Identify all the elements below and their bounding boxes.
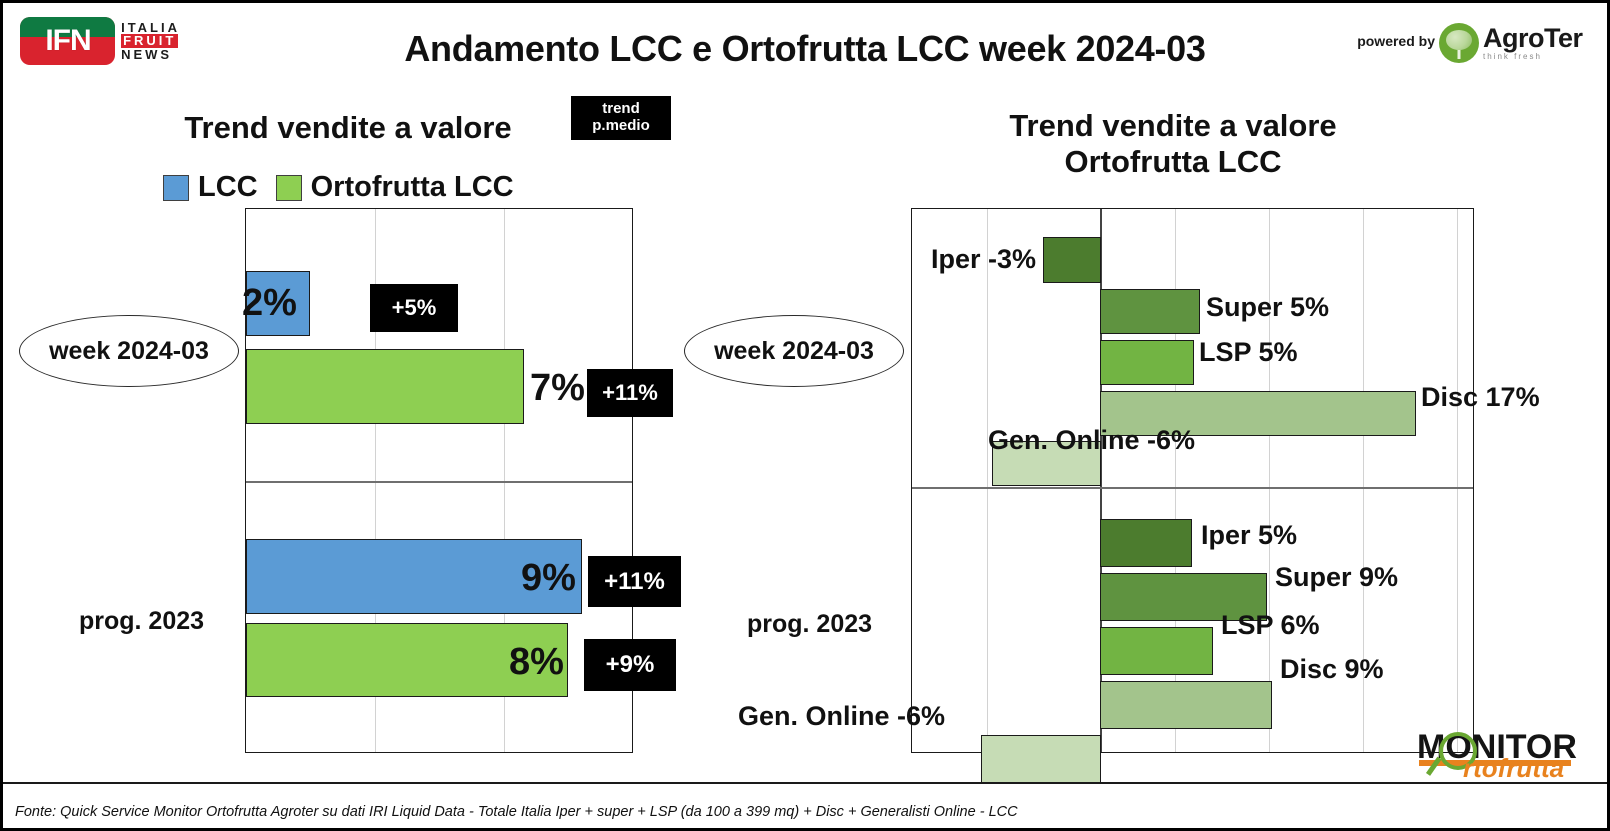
pmedio-badge-ortofrutta-week: +11% [587,369,673,417]
bar-super-week [1100,289,1200,334]
value-label-ortofrutta-prog: 8% [509,643,564,681]
legend-swatch-lcc [163,175,189,201]
value-label-genonline-prog: Gen. Online -6% [738,703,945,730]
bar-lsp-week [1100,340,1194,385]
right-gridline-4 [1269,209,1270,752]
value-label-lsp-prog: LSP 6% [1221,612,1320,639]
pmedio-badge-lcc-prog: +11% [588,556,681,607]
value-label-lcc-prog: 9% [521,559,576,597]
value-label-iper-prog: Iper 5% [1201,522,1297,549]
value-label-super-week: Super 5% [1206,294,1329,321]
bar-genonline-prog [981,735,1101,783]
source-note: Fonte: Quick Service Monitor Ortofrutta … [15,804,1357,820]
value-label-lcc-week: 2% [242,284,297,322]
legend-swatch-ortofrutta [276,175,302,201]
value-label-super-prog: Super 9% [1275,564,1398,591]
monitor-ortofrutta-logo: MONITOR rtofrutta [1393,724,1599,786]
right-group-divider [912,487,1473,489]
bar-iper-prog [1100,519,1192,567]
value-label-lsp-week: LSP 5% [1199,339,1298,366]
axis-label-prog-left: prog. 2023 [79,607,204,636]
trend-badge-line1: trend [602,101,640,118]
left-chart-legend: LCC Ortofrutta LCC [163,171,514,204]
bar-lsp-prog [1100,627,1213,675]
right-chart-plot-area [911,208,1474,753]
legend-label-lcc: LCC [198,171,258,204]
value-label-disc-week: Disc 17% [1421,384,1540,411]
value-label-genonline-week: Gen. Online -6% [988,427,1195,454]
legend-item-ortofrutta: Ortofrutta LCC [276,171,514,204]
monitor-subwordmark: rtofrutta [1463,753,1564,784]
right-gridline-6 [1457,209,1458,752]
right-chart-title: Trend vendite a valore Ortofrutta LCC [863,108,1483,180]
bar-ortofrutta-week [246,349,524,424]
legend-item-lcc: LCC [163,171,258,204]
value-label-ortofrutta-week: 7% [530,369,585,407]
footer-divider [3,782,1607,784]
trend-badge-line2: p.medio [592,118,650,135]
left-group-divider [246,481,632,483]
bar-disc-prog [1100,681,1272,729]
trend-pmedio-badge: trend p.medio [571,96,671,140]
value-label-disc-prog: Disc 9% [1280,656,1384,683]
right-chart-title-line2: Ortofrutta LCC [863,144,1483,180]
legend-label-ortofrutta: Ortofrutta LCC [311,171,514,204]
page-title: Andamento LCC e Ortofrutta LCC week 2024… [3,28,1607,70]
value-label-iper-week: Iper -3% [931,246,1036,273]
pmedio-badge-lcc-week: +5% [370,284,458,332]
axis-label-prog-right: prog. 2023 [747,610,872,639]
slide-canvas: IFN ITALIA FRUIT NEWS powered by AgroTer… [0,0,1610,831]
callout-week-left: week 2024-03 [19,315,239,387]
right-chart-title-line1: Trend vendite a valore [863,108,1483,144]
pmedio-badge-ortofrutta-prog: +9% [584,639,676,691]
right-gridline-1 [987,209,988,752]
callout-week-right: week 2024-03 [684,315,904,387]
bar-iper-week [1043,237,1101,283]
left-chart-title: Trend vendite a valore [123,110,573,146]
